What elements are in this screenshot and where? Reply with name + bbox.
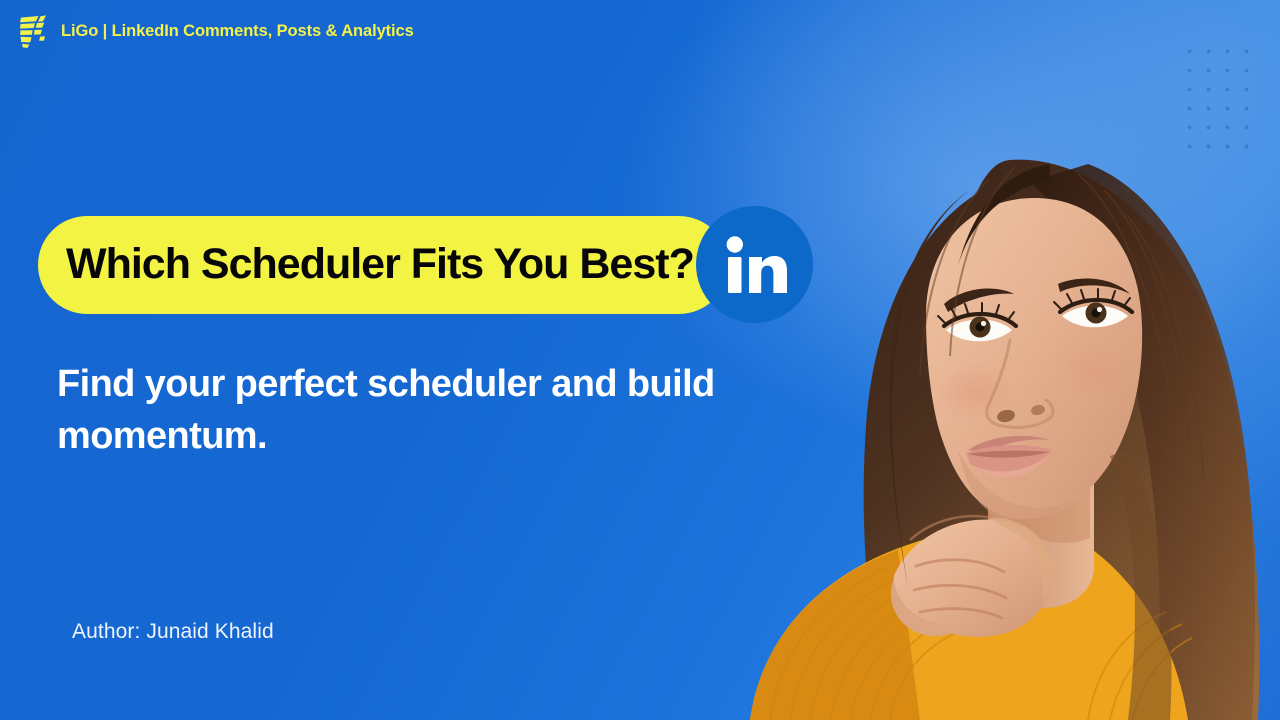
linkedin-in-icon[interactable] — [696, 206, 813, 323]
subtitle: Find your perfect scheduler and build mo… — [57, 358, 787, 463]
dot-grid-pattern — [1178, 40, 1254, 150]
brand-title: LiGo | LinkedIn Comments, Posts & Analyt… — [61, 22, 414, 41]
slide-canvas: LiGo | LinkedIn Comments, Posts & Analyt… — [0, 0, 1280, 720]
brand-header: LiGo | LinkedIn Comments, Posts & Analyt… — [16, 14, 414, 48]
author-byline: Author: Junaid Khalid — [72, 620, 274, 644]
page-title: Which Scheduler Fits You Best? — [66, 243, 694, 286]
headline-pill: Which Scheduler Fits You Best? — [38, 216, 728, 314]
ligo-fan-logo-icon — [16, 14, 50, 48]
headline-group: Which Scheduler Fits You Best? — [38, 206, 813, 323]
